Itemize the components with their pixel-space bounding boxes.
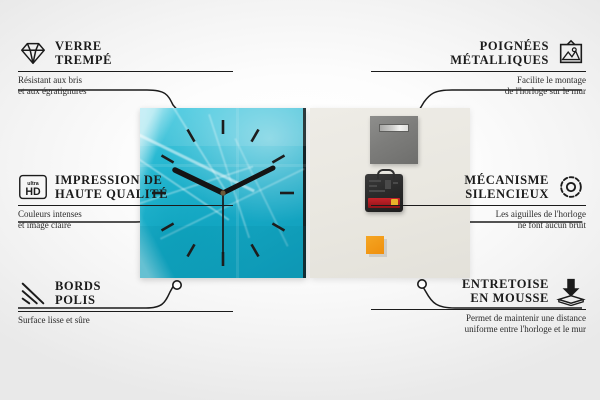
feature-desc-line1: Permet de maintenir une distance xyxy=(371,313,586,324)
feature-desc-line1: Surface lisse et sûre xyxy=(18,315,233,326)
picture-hanger-icon xyxy=(556,38,586,68)
feature-desc-line2: et image claire xyxy=(18,220,233,231)
ultra-hd-icon-big-text: HD xyxy=(25,186,41,198)
ultra-hd-icon: ultra HD xyxy=(18,172,48,202)
feature-header: POIGNÉES MÉTALLIQUES xyxy=(371,38,586,68)
feature-rule xyxy=(18,71,233,72)
feature-title: IMPRESSION DE HAUTE QUALITÉ xyxy=(55,173,168,201)
feature-header: ENTRETOISE EN MOUSSE xyxy=(371,276,586,306)
feature-rule xyxy=(371,205,586,206)
diamond-icon xyxy=(18,38,48,68)
feature-title-line1: BORDS xyxy=(55,279,101,293)
feature-description: Permet de maintenir une distance uniform… xyxy=(371,313,586,335)
feature-title: MÉCANISME SILENCIEUX xyxy=(464,173,549,201)
feature-title-line1: MÉCANISME xyxy=(464,173,549,187)
feature-impression-haute-qualite[interactable]: ultra HD IMPRESSION DE HAUTE QUALITÉ Cou… xyxy=(18,172,233,231)
feature-title-line2: TREMPÉ xyxy=(55,53,112,67)
feature-poignees-metalliques[interactable]: POIGNÉES MÉTALLIQUES Facilite le montage… xyxy=(371,38,586,97)
feature-entretoise-en-mousse[interactable]: ENTRETOISE EN MOUSSE Permet de maintenir… xyxy=(371,276,586,335)
metal-hanger-part xyxy=(370,116,418,164)
feature-desc-line2: ne font aucun bruit xyxy=(371,220,586,231)
feature-title-line1: IMPRESSION DE xyxy=(55,173,168,187)
feature-rule xyxy=(371,71,586,72)
feature-description: Facilite le montage de l'horloge sur le … xyxy=(371,75,586,97)
feature-verre-trempe[interactable]: VERRE TREMPÉ Résistant aux bris et aux é… xyxy=(18,38,233,97)
feature-desc-line2: uniforme entre l'horloge et le mur xyxy=(371,324,586,335)
feature-title-line2: EN MOUSSE xyxy=(462,291,549,305)
feature-desc-line1: Facilite le montage xyxy=(371,75,586,86)
feature-header: VERRE TREMPÉ xyxy=(18,38,233,68)
hanger-slot xyxy=(379,124,409,132)
feature-header: BORDS POLIS xyxy=(18,278,233,308)
feature-mecanisme-silencieux[interactable]: MÉCANISME SILENCIEUX Les aiguilles de l'… xyxy=(371,172,586,231)
feature-title-line2: SILENCIEUX xyxy=(464,187,549,201)
feature-bords-polis[interactable]: BORDS POLIS Surface lisse et sûre xyxy=(18,278,233,326)
feature-title-line1: VERRE xyxy=(55,39,112,53)
feature-desc-line1: Couleurs intenses xyxy=(18,209,233,220)
feature-title-line1: ENTRETOISE xyxy=(462,277,549,291)
feature-desc-line1: Les aiguilles de l'horloge xyxy=(371,209,586,220)
feature-desc-line2: et aux égratignures xyxy=(18,86,233,97)
feature-description: Surface lisse et sûre xyxy=(18,315,233,326)
polished-edges-icon xyxy=(18,278,48,308)
feature-description: Les aiguilles de l'horloge ne font aucun… xyxy=(371,209,586,231)
feature-title-line1: POIGNÉES xyxy=(450,39,549,53)
feature-desc-line1: Résistant aux bris xyxy=(18,75,233,86)
feature-desc-line2: de l'horloge sur le mur xyxy=(371,86,586,97)
feature-rule xyxy=(18,311,233,312)
feature-title: BORDS POLIS xyxy=(55,279,101,307)
gear-icon xyxy=(556,172,586,202)
feature-description: Couleurs intenses et image claire xyxy=(18,209,233,231)
foam-spacer-part xyxy=(366,236,384,254)
feature-title: POIGNÉES MÉTALLIQUES xyxy=(450,39,549,67)
feature-header: MÉCANISME SILENCIEUX xyxy=(371,172,586,202)
feature-rule xyxy=(371,309,586,310)
infographic-canvas: VERRE TREMPÉ Résistant aux bris et aux é… xyxy=(0,0,600,400)
feature-title-line2: MÉTALLIQUES xyxy=(450,53,549,67)
feature-title: VERRE TREMPÉ xyxy=(55,39,112,67)
feature-rule xyxy=(18,205,233,206)
feature-title-line2: HAUTE QUALITÉ xyxy=(55,187,168,201)
feature-title: ENTRETOISE EN MOUSSE xyxy=(462,277,549,305)
feature-description: Résistant aux bris et aux égratignures xyxy=(18,75,233,97)
spacer-press-icon xyxy=(556,276,586,306)
feature-header: ultra HD IMPRESSION DE HAUTE QUALITÉ xyxy=(18,172,233,202)
feature-title-line2: POLIS xyxy=(55,293,101,307)
